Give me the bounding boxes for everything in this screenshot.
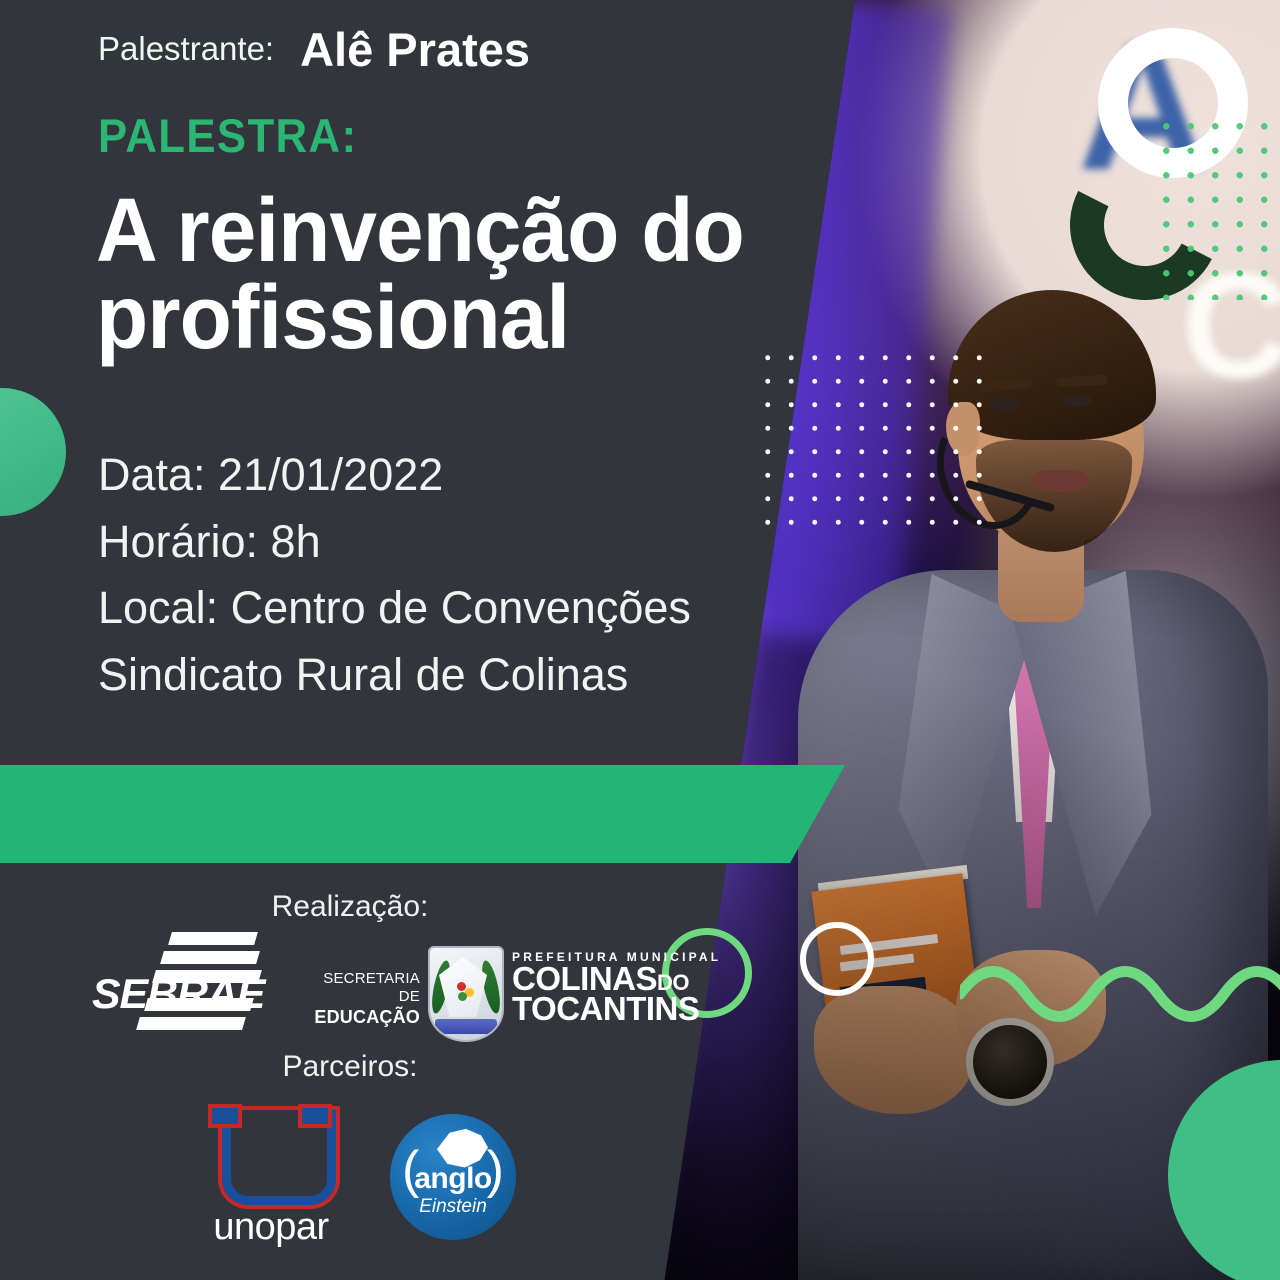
unopar-wordmark: unopar <box>196 1206 346 1249</box>
event-poster: A C <box>0 0 1280 1280</box>
event-venue-line-1: Local: Centro de Convenções <box>98 575 738 642</box>
event-details: Data: 21/01/2022 Horário: 8h Local: Cent… <box>98 442 738 708</box>
speaker-name: Alê Prates <box>300 22 530 77</box>
anglo-sub-wordmark: Einstein <box>390 1196 516 1218</box>
title-line-2: profissional <box>96 275 856 362</box>
anglo-wordmark: anglo <box>390 1162 516 1196</box>
white-ring-outline <box>800 922 874 996</box>
sebrae-bar <box>168 932 258 945</box>
secretaria-line-2: EDUCAÇÃO <box>312 1007 420 1029</box>
parceiros-label: Parceiros: <box>0 1050 700 1084</box>
city-name-line-2: TOCANTINS <box>512 994 742 1024</box>
sebrae-logo: SEBRAE <box>92 930 272 1036</box>
event-date: Data: 21/01/2022 <box>98 442 738 509</box>
sebrae-bar <box>136 1017 246 1030</box>
crest-ribbon <box>435 1019 497 1034</box>
unopar-monogram-serif-right <box>302 1108 328 1124</box>
white-dot-grid <box>752 342 984 532</box>
realizacao-label: Realização: <box>0 890 700 924</box>
colinas-wordmark: PREFEITURA MUNICIPAL COLINASDO TOCANTINS <box>512 950 742 1025</box>
crest-dot-green <box>458 992 467 1001</box>
colinas-tocantins-logo: SECRETARIA DE EDUCAÇÃO PREFEITURA MUNICI… <box>312 952 632 1034</box>
unopar-logo: unopar <box>196 1110 346 1260</box>
unopar-monogram-serif-left <box>212 1108 238 1124</box>
green-circle-left <box>0 388 66 516</box>
secretaria-educacao-text: SECRETARIA DE EDUCAÇÃO <box>312 970 420 1029</box>
anglo-einstein-logo: ( ) anglo Einstein <box>390 1114 516 1240</box>
speaker-label: Palestrante: <box>98 30 274 68</box>
green-dot-grid <box>1150 110 1272 300</box>
sebrae-bar <box>160 951 260 964</box>
event-time: Horário: 8h <box>98 509 738 576</box>
page-title: A reinvenção do profissional <box>96 188 856 363</box>
sebrae-wordmark: SEBRAE <box>92 970 276 1018</box>
green-wave-line <box>960 962 1280 1022</box>
speaker-banner-content: Palestrante: Alê Prates <box>98 0 530 98</box>
kicker-label: PALESTRA: <box>98 108 357 163</box>
speaker-banner <box>0 765 845 863</box>
event-venue-line-2: Sindicato Rural de Colinas <box>98 642 738 709</box>
title-line-1: A reinvenção do <box>96 188 856 275</box>
municipal-crest-icon <box>428 946 504 1042</box>
unopar-monogram-icon <box>222 1110 336 1205</box>
secretaria-line-1: SECRETARIA DE <box>312 970 420 1007</box>
